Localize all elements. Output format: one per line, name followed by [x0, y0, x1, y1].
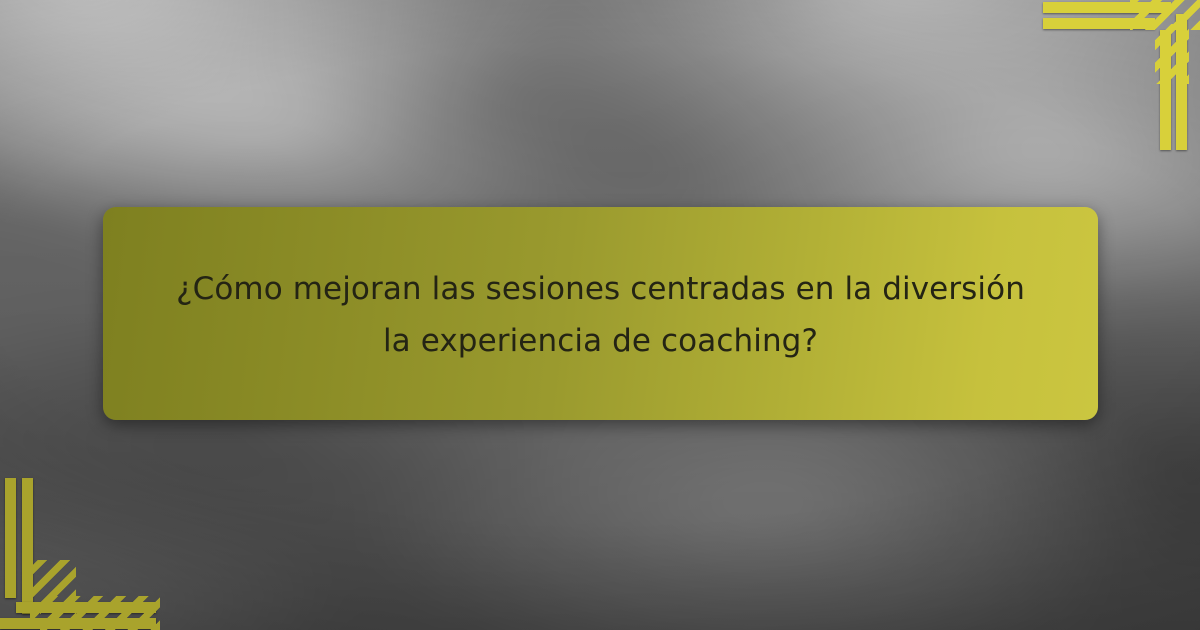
bracket-bar-vertical-inner — [5, 478, 16, 598]
quote-card: ¿Cómo mejoran las sesiones centradas en … — [103, 207, 1098, 420]
quote-card-canvas: ¿Cómo mejoran las sesiones centradas en … — [0, 0, 1200, 630]
bracket-hatch-vertical — [1155, 24, 1189, 84]
quote-text: ¿Cómo mejoran las sesiones centradas en … — [171, 264, 1031, 367]
bracket-hatch-horizontal — [40, 596, 160, 630]
